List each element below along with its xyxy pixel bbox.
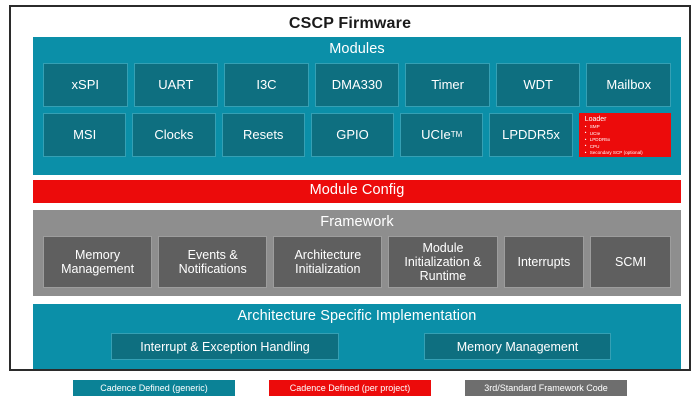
module-box-ucie[interactable]: UCIeTM: [400, 113, 483, 157]
framework-box-architecture-initialization[interactable]: Architecture Initialization: [273, 236, 382, 288]
module-box-msi[interactable]: MSI: [43, 113, 126, 157]
framework-box-events-notifications[interactable]: Events & Notifications: [158, 236, 267, 288]
module-box-xspi[interactable]: xSPI: [43, 63, 128, 107]
module-box-timer[interactable]: Timer: [405, 63, 490, 107]
loader-list: SMP UCIe LPDDR5x CPU Secondary SCP (opti…: [585, 124, 666, 157]
architecture-section-title: Architecture Specific Implementation: [33, 304, 681, 324]
framework-box-scmi[interactable]: SCMI: [590, 236, 671, 288]
framework-box-memory-management[interactable]: Memory Management: [43, 236, 152, 288]
legend: Cadence Defined (generic) Cadence Define…: [0, 379, 700, 397]
module-box-lpddr5x[interactable]: LPDDR5x: [489, 113, 572, 157]
architecture-section: Architecture Specific Implementation Int…: [33, 304, 681, 369]
module-box-clocks[interactable]: Clocks: [132, 113, 215, 157]
modules-row-2: MSI Clocks Resets GPIO UCIeTM LPDDR5x Lo…: [43, 113, 671, 157]
module-box-ucie-label: UCIe: [421, 128, 451, 142]
cscp-firmware-diagram: CSCP Firmware Modules xSPI UART I3C DMA3…: [0, 0, 700, 407]
modules-section: Modules xSPI UART I3C DMA330 Timer WDT M…: [33, 37, 681, 175]
framework-box-interrupts[interactable]: Interrupts: [504, 236, 585, 288]
diagram-panel: CSCP Firmware Modules xSPI UART I3C DMA3…: [9, 5, 691, 371]
legend-item-cadence-per-project: Cadence Defined (per project): [269, 380, 431, 396]
architecture-row: Interrupt & Exception Handling Memory Ma…: [111, 333, 611, 360]
module-box-uart[interactable]: UART: [134, 63, 219, 107]
module-box-loader[interactable]: Loader SMP UCIe LPDDR5x CPU Secondary SC…: [579, 113, 671, 157]
framework-box-module-initialization-runtime[interactable]: Module Initialization & Runtime: [388, 236, 497, 288]
modules-row-1: xSPI UART I3C DMA330 Timer WDT Mailbox: [43, 63, 671, 107]
architecture-box-interrupt-exception-handling[interactable]: Interrupt & Exception Handling: [111, 333, 339, 360]
module-box-mailbox[interactable]: Mailbox: [586, 63, 671, 107]
module-box-resets[interactable]: Resets: [222, 113, 305, 157]
module-config-section: Module Config: [33, 180, 681, 203]
module-box-gpio[interactable]: GPIO: [311, 113, 394, 157]
architecture-box-memory-management[interactable]: Memory Management: [424, 333, 611, 360]
page-title: CSCP Firmware: [11, 15, 689, 33]
framework-section-title: Framework: [33, 210, 681, 230]
legend-item-third-party-framework: 3rd/Standard Framework Code: [465, 380, 627, 396]
modules-section-title: Modules: [33, 37, 681, 57]
module-box-i3c[interactable]: I3C: [224, 63, 309, 107]
framework-section: Framework Memory Management Events & Not…: [33, 210, 681, 296]
legend-item-cadence-generic: Cadence Defined (generic): [73, 380, 235, 396]
framework-row: Memory Management Events & Notifications…: [43, 236, 671, 288]
loader-list-item: Secondary SCP (optional): [585, 150, 666, 157]
module-box-wdt[interactable]: WDT: [496, 63, 581, 107]
loader-title: Loader: [585, 116, 666, 124]
module-box-dma330[interactable]: DMA330: [315, 63, 400, 107]
module-config-title: Module Config: [33, 180, 681, 198]
